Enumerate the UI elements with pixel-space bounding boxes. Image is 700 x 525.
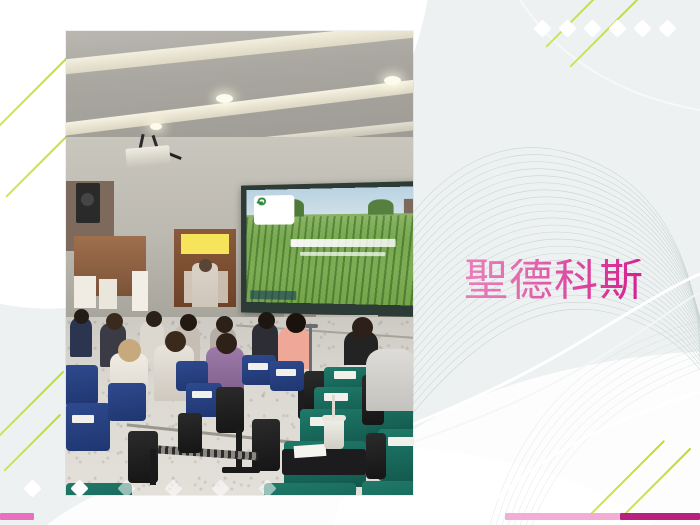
seat-tag <box>72 415 94 423</box>
seat <box>362 481 413 495</box>
accent-bar-left <box>0 513 34 520</box>
diamond-icon <box>258 479 276 497</box>
seat-back <box>216 387 244 433</box>
diamond-icon <box>633 19 651 37</box>
seat <box>108 383 146 421</box>
slide-headline-overlay <box>290 239 395 247</box>
standing-person-head <box>199 259 212 272</box>
slide-logo-badge <box>254 195 294 225</box>
notice-poster <box>99 279 117 309</box>
diamond-icon <box>211 479 229 497</box>
seat-tag <box>324 393 348 401</box>
cup-straw <box>332 395 335 417</box>
drink-cup <box>324 419 344 449</box>
diamond-icon <box>70 479 88 497</box>
audience-person-head <box>74 309 89 324</box>
ceiling-projector <box>125 145 170 167</box>
seat <box>66 403 110 451</box>
projected-slide <box>247 186 413 307</box>
audience-person <box>366 349 413 411</box>
diamond-icon <box>164 479 182 497</box>
audience-person-head <box>216 333 237 354</box>
notice-poster <box>132 271 148 311</box>
page-title: 聖德科斯 <box>464 259 644 303</box>
audience-person-head <box>258 312 275 329</box>
slide-tree <box>369 199 394 215</box>
presentation-slide: 聖德科斯 <box>0 0 700 525</box>
seat-tag <box>248 363 268 370</box>
accent-bar-right-light <box>505 513 620 520</box>
audience-person-head <box>216 316 233 333</box>
speaker-cone <box>81 193 94 206</box>
diamond-icon <box>583 19 601 37</box>
slide-farm-building <box>404 198 413 213</box>
seat-tag <box>276 369 296 376</box>
seat <box>66 365 98 405</box>
audience-person-head <box>286 313 306 333</box>
ceiling-spotlight <box>216 94 233 103</box>
audience-person-head <box>118 339 141 362</box>
diamond-icon <box>117 479 135 497</box>
audience-person-head <box>180 314 197 331</box>
seat-back <box>252 419 280 471</box>
diamond-dot-row-top <box>536 22 686 35</box>
slide-subtitle-overlay <box>300 252 385 257</box>
ceiling-spotlight <box>384 76 401 85</box>
accent-bar-right-dark <box>620 513 700 520</box>
audience-person-head <box>165 331 186 352</box>
paper-sheet <box>294 444 327 458</box>
seat-back <box>366 433 386 479</box>
seat-tag <box>334 371 356 379</box>
diamond-icon <box>558 19 576 37</box>
door-transom-window <box>181 234 229 254</box>
luggage-handle-top <box>305 324 318 328</box>
diamond-icon <box>533 19 551 37</box>
seat <box>270 361 304 391</box>
ceiling-spotlight <box>150 123 162 130</box>
diamond-icon <box>658 19 676 37</box>
audience-person-head <box>146 311 162 327</box>
notice-poster <box>74 276 96 308</box>
diamond-icon <box>608 19 626 37</box>
lecture-hall-photo <box>66 31 413 495</box>
seat-tag <box>192 391 212 398</box>
seat-back <box>178 413 202 453</box>
luggage-handle <box>309 327 312 377</box>
diamond-icon <box>23 479 41 497</box>
seat-leg <box>150 449 156 485</box>
slide-footer-label <box>250 291 296 300</box>
seat-foot <box>222 467 260 473</box>
audience-person-head <box>352 317 373 338</box>
seat-tag <box>388 437 413 446</box>
diamond-dot-row-bottom <box>26 482 308 495</box>
audience-person-head <box>106 313 123 330</box>
seat-leg <box>236 429 242 471</box>
